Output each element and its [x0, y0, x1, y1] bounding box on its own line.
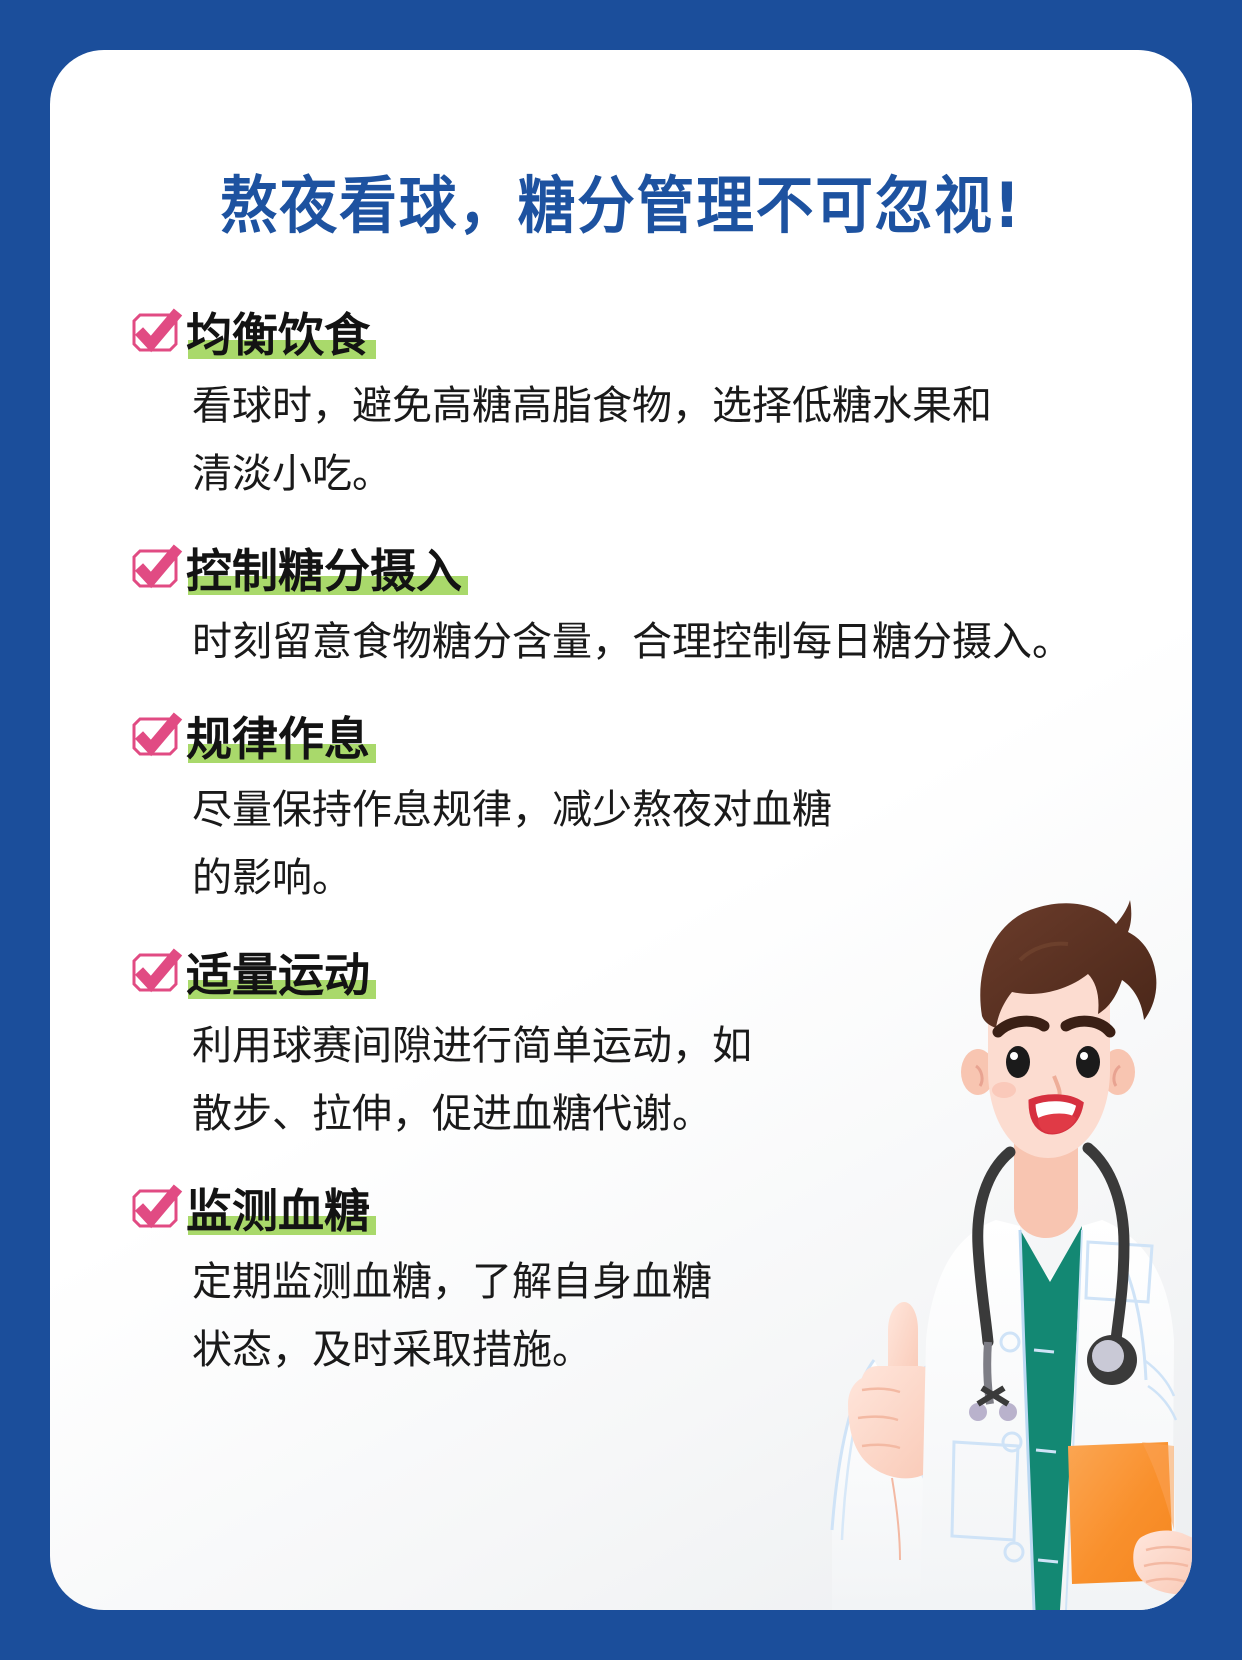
tip-body-line: 定期监测血糖，了解自身血糖: [192, 1248, 812, 1316]
tip-heading-row: 控制糖分摄入: [118, 534, 1118, 596]
holding-hand: [1133, 1531, 1192, 1596]
tip-heading-row: 监测血糖: [118, 1174, 1118, 1236]
tip-body: 尽量保持作息规律，减少熬夜对血糖 的影响。: [192, 776, 1092, 912]
tip-body: 利用球赛间隙进行简单运动，如 散步、拉伸，促进血糖代谢。: [192, 1012, 812, 1148]
tip-item: 均衡饮食 看球时，避免高糖高脂食物，选择低糖水果和 清淡小吃。: [118, 298, 1118, 508]
tip-body-line: 时刻留意食物糖分含量，合理控制每日糖分摄入。: [192, 608, 1092, 676]
poster-card: 熬夜看球，糖分管理不可忽视! 均衡饮食: [50, 50, 1192, 1610]
check-mark-icon: [126, 540, 184, 598]
tip-heading: 控制糖分摄入: [186, 544, 462, 598]
tip-heading-row: 规律作息: [118, 702, 1118, 764]
coat-button: [1003, 1433, 1021, 1451]
page-title: 熬夜看球，糖分管理不可忽视!: [90, 155, 1152, 245]
tip-heading: 监测血糖: [186, 1184, 370, 1238]
tip-heading-wrap: 监测血糖: [186, 1186, 370, 1236]
tip-item: 规律作息 尽量保持作息规律，减少熬夜对血糖 的影响。: [118, 702, 1118, 912]
tip-body-line: 利用球赛间隙进行简单运动，如: [192, 1012, 812, 1080]
tip-body: 看球时，避免高糖高脂食物，选择低糖水果和 清淡小吃。: [192, 372, 1092, 508]
tip-heading-wrap: 控制糖分摄入: [186, 546, 462, 596]
coat-button: [1005, 1543, 1023, 1561]
tip-item: 适量运动 利用球赛间隙进行简单运动，如 散步、拉伸，促进血糖代谢。: [118, 938, 1118, 1148]
tip-item: 控制糖分摄入 时刻留意食物糖分含量，合理控制每日糖分摄入。: [118, 534, 1118, 676]
tip-body-line: 清淡小吃。: [192, 440, 1092, 508]
tip-heading-wrap: 规律作息: [186, 714, 370, 764]
check-mark-icon: [126, 304, 184, 362]
tip-body-line: 状态，及时采取措施。: [192, 1316, 812, 1384]
tip-body-line: 的影响。: [192, 844, 1092, 912]
coat-right-sleeve: [1112, 1226, 1178, 1610]
check-mark-icon: [126, 708, 184, 766]
folder-icon: [1068, 1442, 1174, 1584]
check-mark-icon: [126, 944, 184, 1002]
tip-body-line: 看球时，避免高糖高脂食物，选择低糖水果和: [192, 372, 1092, 440]
tip-heading: 均衡饮食: [186, 308, 370, 362]
poster-root: 熬夜看球，糖分管理不可忽视! 均衡饮食: [0, 0, 1242, 1660]
tip-heading-wrap: 适量运动: [186, 950, 370, 1000]
tip-item: 监测血糖 定期监测血糖，了解自身血糖 状态，及时采取措施。: [118, 1174, 1118, 1384]
tip-body: 时刻留意食物糖分含量，合理控制每日糖分摄入。: [192, 608, 1092, 676]
tip-heading: 适量运动: [186, 948, 370, 1002]
tip-heading-row: 适量运动: [118, 938, 1118, 1000]
tip-body-line: 尽量保持作息规律，减少熬夜对血糖: [192, 776, 1092, 844]
check-mark-icon: [126, 1180, 184, 1238]
coat-side-pocket: [952, 1442, 1018, 1540]
tip-heading-wrap: 均衡饮食: [186, 310, 370, 360]
tip-body-line: 散步、拉伸，促进血糖代谢。: [192, 1080, 812, 1148]
tip-body: 定期监测血糖，了解自身血糖 状态，及时采取措施。: [192, 1248, 812, 1384]
tips-list: 均衡饮食 看球时，避免高糖高脂食物，选择低糖水果和 清淡小吃。: [118, 298, 1118, 1410]
tip-heading-row: 均衡饮食: [118, 298, 1118, 360]
tip-heading: 规律作息: [186, 712, 370, 766]
